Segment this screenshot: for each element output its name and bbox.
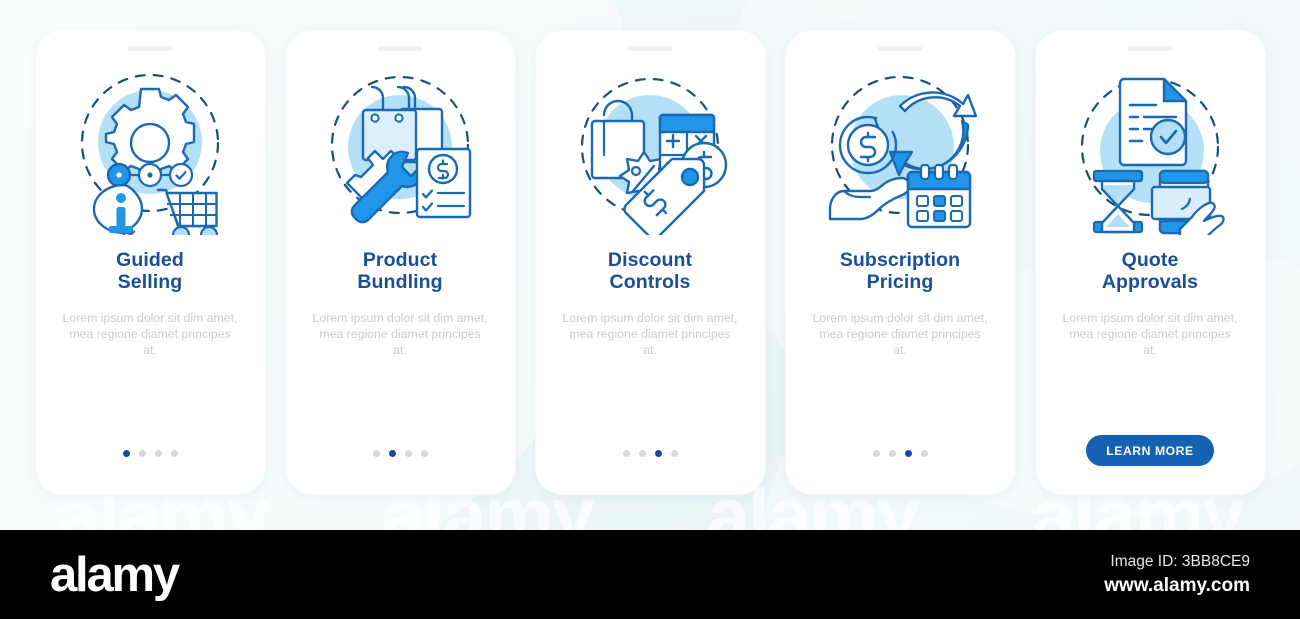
card-description: Lorem ipsum dolor sit dim amet, mea regi… — [562, 310, 738, 358]
pagination-dot[interactable] — [873, 450, 880, 457]
pagination-dot[interactable] — [139, 450, 146, 457]
footer-image-id: Image ID: 3BB8CE9 — [1104, 550, 1250, 573]
pagination-dot[interactable] — [921, 450, 928, 457]
card-description: Lorem ipsum dolor sit dim amet, mea regi… — [312, 310, 488, 358]
phone-speaker-bar — [378, 46, 422, 51]
phone-speaker-bar — [628, 46, 672, 51]
phone-speaker-bar — [878, 46, 922, 51]
guided-selling-icon — [60, 59, 240, 235]
quote-approvals-icon — [1060, 59, 1240, 235]
card-title: Discount Controls — [608, 249, 692, 293]
pagination-dot[interactable] — [889, 450, 896, 457]
onboarding-card-row: Guided Selling Lorem ipsum dolor sit dim… — [0, 0, 1300, 525]
pagination-dot[interactable] — [123, 450, 130, 457]
onboarding-card-quote-approvals[interactable]: Quote Approvals Lorem ipsum dolor sit di… — [1036, 31, 1265, 494]
subscription-pricing-icon — [810, 59, 990, 235]
footer-url: www.alamy.com — [1104, 573, 1250, 599]
phone-speaker-bar — [128, 46, 172, 51]
pagination-dot[interactable] — [373, 450, 380, 457]
pagination-dots[interactable] — [623, 450, 678, 457]
onboarding-card-subscription-pricing[interactable]: Subscription Pricing Lorem ipsum dolor s… — [786, 31, 1015, 494]
card-title: Product Bundling — [357, 249, 442, 293]
pagination-dot[interactable] — [623, 450, 630, 457]
pagination-dots[interactable] — [123, 450, 178, 457]
card-description: Lorem ipsum dolor sit dim amet, mea regi… — [62, 310, 238, 358]
pagination-dots[interactable] — [873, 450, 928, 457]
onboarding-card-product-bundling[interactable]: Product Bundling Lorem ipsum dolor sit d… — [286, 31, 515, 494]
footer-meta: Image ID: 3BB8CE9 www.alamy.com — [1104, 550, 1250, 599]
pagination-dot[interactable] — [421, 450, 428, 457]
card-description: Lorem ipsum dolor sit dim amet, mea regi… — [812, 310, 988, 358]
card-title: Guided Selling — [116, 249, 184, 293]
pagination-dot[interactable] — [639, 450, 646, 457]
phone-speaker-bar — [1128, 46, 1172, 51]
pagination-dots[interactable] — [373, 450, 428, 457]
discount-controls-icon — [560, 59, 740, 235]
alamy-logo: alamy — [50, 547, 178, 603]
learn-more-button[interactable]: LEARN MORE — [1086, 435, 1213, 466]
screenshot-stage: alamy alamy alamy alamy — [0, 0, 1300, 619]
card-description: Lorem ipsum dolor sit dim amet, mea regi… — [1062, 310, 1238, 358]
product-bundling-icon — [310, 59, 490, 235]
onboarding-card-guided-selling[interactable]: Guided Selling Lorem ipsum dolor sit dim… — [36, 31, 265, 494]
pagination-dot[interactable] — [655, 450, 662, 457]
pagination-dot[interactable] — [405, 450, 412, 457]
card-title: Subscription Pricing — [840, 249, 960, 293]
pagination-dot[interactable] — [389, 450, 396, 457]
onboarding-card-discount-controls[interactable]: Discount Controls Lorem ipsum dolor sit … — [536, 31, 765, 494]
pagination-dot[interactable] — [155, 450, 162, 457]
pagination-dot[interactable] — [671, 450, 678, 457]
pagination-dot[interactable] — [905, 450, 912, 457]
alamy-footer-bar: alamy Image ID: 3BB8CE9 www.alamy.com — [0, 530, 1300, 619]
card-title: Quote Approvals — [1102, 249, 1198, 293]
pagination-dot[interactable] — [171, 450, 178, 457]
